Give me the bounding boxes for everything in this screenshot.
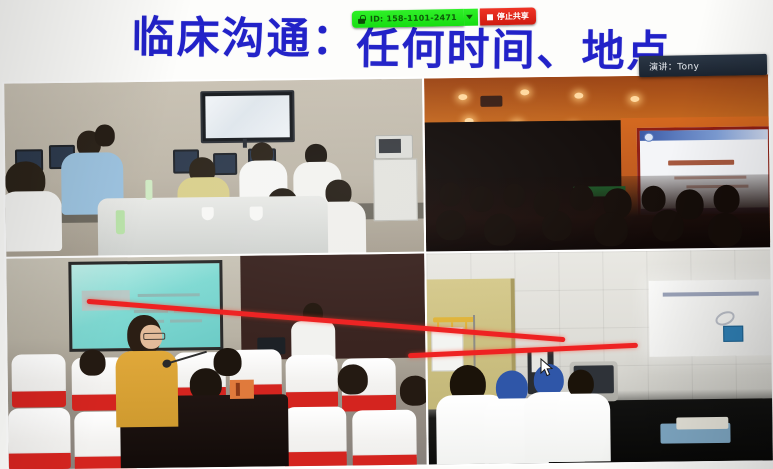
person-body	[2, 191, 62, 252]
audience-head	[338, 364, 368, 394]
ceiling-projector	[480, 96, 502, 107]
person-head	[95, 124, 115, 146]
slide-image-block	[723, 326, 743, 342]
eyeglasses	[143, 333, 165, 340]
ceiling-light	[458, 94, 467, 100]
audience-head	[503, 183, 525, 207]
covered-chair	[11, 354, 66, 397]
slide-heading-line	[668, 160, 734, 166]
photo-bottom-left	[4, 252, 429, 469]
tv-screen	[205, 95, 290, 138]
active-speaker-label: 演讲：Tony	[649, 59, 700, 73]
slide-text-line	[138, 293, 200, 297]
water-bottle	[145, 180, 152, 200]
slide-text-line	[663, 291, 759, 296]
meeting-id-pill[interactable]: ID: 158-1101-2471	[352, 9, 464, 28]
photo-top-left-scene	[4, 79, 424, 258]
audience-head	[484, 213, 516, 245]
covered-chair	[285, 355, 338, 398]
audience-head	[469, 186, 493, 212]
active-speaker-tag: 演讲：Tony	[639, 54, 767, 77]
stacked-papers	[676, 417, 728, 430]
stop-square-icon	[487, 14, 493, 20]
slide-logo	[644, 133, 654, 142]
audience-head	[436, 210, 466, 240]
meeting-table	[98, 196, 329, 257]
audience-head	[569, 184, 593, 210]
podium-name-card	[230, 380, 254, 399]
stop-share-button[interactable]: 停止共享	[480, 7, 536, 25]
water-bottle	[116, 210, 125, 234]
photo-bottom-right	[424, 247, 773, 466]
lock-icon	[358, 15, 365, 24]
staff-white-coat	[556, 393, 611, 462]
photo-bottom-left-scene	[6, 254, 427, 469]
covered-chair	[284, 407, 347, 458]
chevron-down-icon	[466, 15, 473, 20]
audience-head	[79, 349, 105, 375]
slide-title-part1: 临床沟通：	[131, 13, 357, 65]
photo-top-right-scene	[424, 74, 770, 252]
covered-chair	[8, 408, 71, 459]
audience-head	[594, 212, 628, 246]
slide-text-line	[170, 319, 202, 322]
meeting-id-label: ID: 158-1101-2471	[370, 13, 457, 24]
refrigerator	[373, 159, 418, 222]
slide-text-line	[134, 310, 168, 313]
audience-head	[542, 211, 572, 241]
audience-head	[713, 185, 739, 213]
photo-top-left	[2, 77, 426, 260]
photo-bottom-right-scene	[426, 249, 773, 464]
audience-head	[652, 209, 684, 241]
audience-head	[400, 376, 429, 406]
photo-top-right	[422, 72, 772, 254]
audience-head	[213, 348, 241, 376]
meeting-id-dropdown[interactable]	[464, 9, 478, 26]
screen-share-toolbar[interactable]: ID: 158-1101-2471 停止共享	[352, 7, 536, 28]
audience-head	[439, 182, 461, 206]
audience-head	[708, 213, 742, 247]
mouse-pointer-icon	[540, 358, 553, 377]
cup	[202, 207, 214, 220]
stop-share-label: 停止共享	[497, 11, 529, 23]
screen-share-viewport: 临床沟通：任何时间、地点	[0, 0, 773, 469]
projected-image	[649, 279, 773, 357]
microwave	[375, 135, 413, 159]
slide-photo-grid	[2, 72, 773, 469]
ceiling-light	[574, 93, 583, 99]
tv-mount	[243, 139, 247, 148]
covered-chair	[352, 410, 417, 461]
wall-tv	[200, 90, 295, 143]
cup	[250, 207, 263, 221]
audience-head	[641, 186, 665, 212]
wall-rack	[433, 317, 475, 323]
monitor	[213, 153, 237, 175]
slide-header-band	[640, 129, 768, 141]
